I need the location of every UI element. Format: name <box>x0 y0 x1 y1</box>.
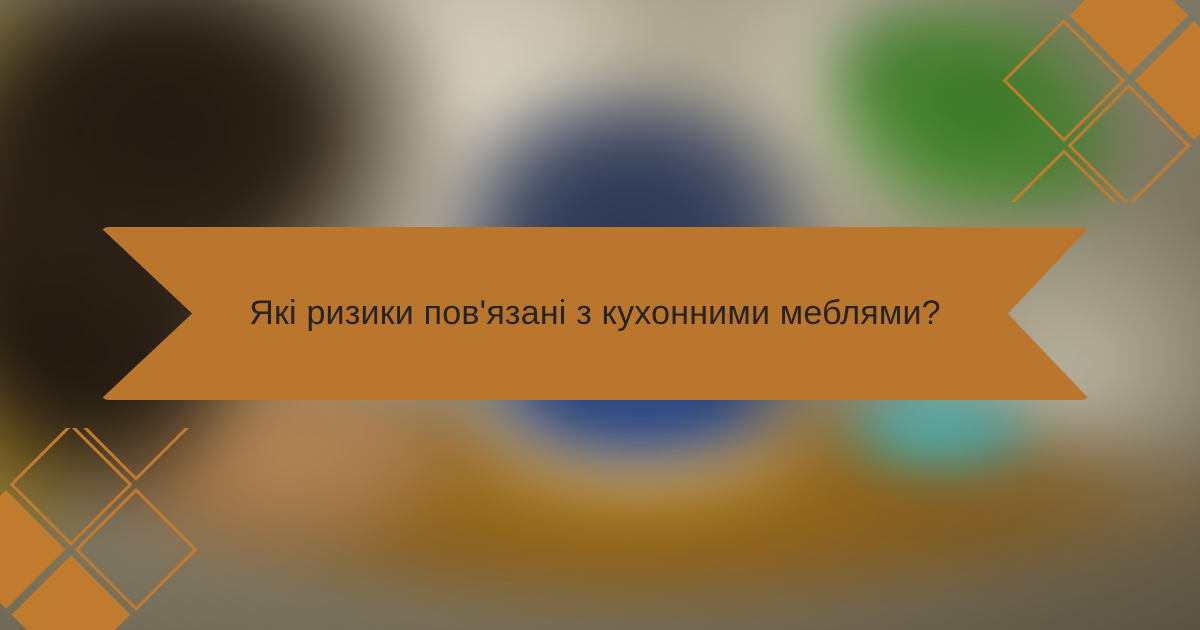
page-title: Які ризики пов'язані з кухонними меблями… <box>100 227 1090 400</box>
social-card: Які ризики пов'язані з кухонними меблями… <box>0 0 1200 630</box>
headline-ribbon: Які ризики пов'язані з кухонними меблями… <box>100 227 1090 400</box>
